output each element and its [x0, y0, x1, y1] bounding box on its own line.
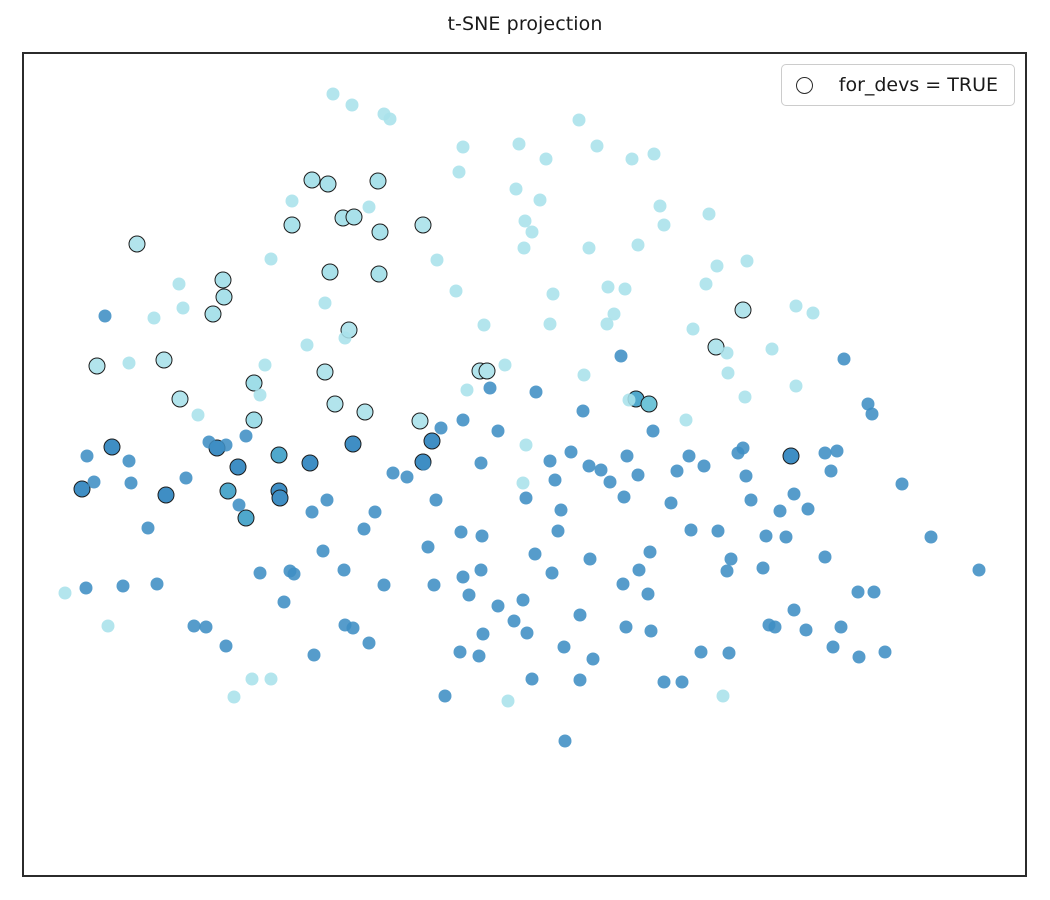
data-point-for-devs-true[interactable]: [345, 209, 362, 226]
data-point-for-devs-false[interactable]: [819, 550, 832, 563]
data-point-for-devs-false[interactable]: [383, 112, 396, 125]
data-point-for-devs-false[interactable]: [806, 306, 819, 319]
data-point-for-devs-false[interactable]: [739, 391, 752, 404]
data-point-for-devs-false[interactable]: [220, 439, 233, 452]
data-point-for-devs-false[interactable]: [148, 311, 161, 324]
data-point-for-devs-false[interactable]: [529, 547, 542, 560]
data-point-for-devs-false[interactable]: [122, 356, 135, 369]
data-point-for-devs-true[interactable]: [412, 413, 429, 430]
data-point-for-devs-false[interactable]: [368, 505, 381, 518]
data-point-for-devs-false[interactable]: [616, 578, 629, 591]
data-point-for-devs-false[interactable]: [305, 505, 318, 518]
data-point-for-devs-false[interactable]: [586, 653, 599, 666]
data-point-for-devs-false[interactable]: [173, 277, 186, 290]
data-point-for-devs-true[interactable]: [479, 363, 496, 380]
data-point-for-devs-false[interactable]: [277, 596, 290, 609]
data-point-for-devs-true[interactable]: [303, 172, 320, 189]
data-point-for-devs-false[interactable]: [516, 476, 529, 489]
data-point-for-devs-false[interactable]: [614, 349, 627, 362]
data-point-for-devs-false[interactable]: [428, 579, 441, 592]
data-point-for-devs-false[interactable]: [220, 640, 233, 653]
data-point-for-devs-false[interactable]: [457, 414, 470, 427]
data-point-for-devs-false[interactable]: [779, 530, 792, 543]
data-point-for-devs-false[interactable]: [658, 219, 671, 232]
data-point-for-devs-false[interactable]: [620, 450, 633, 463]
data-point-for-devs-false[interactable]: [453, 166, 466, 179]
data-point-for-devs-false[interactable]: [603, 475, 616, 488]
data-point-for-devs-false[interactable]: [745, 493, 758, 506]
data-point-for-devs-false[interactable]: [318, 296, 331, 309]
data-point-for-devs-false[interactable]: [687, 322, 700, 335]
data-point-for-devs-false[interactable]: [307, 649, 320, 662]
data-point-for-devs-false[interactable]: [685, 523, 698, 536]
data-point-for-devs-true[interactable]: [88, 358, 105, 375]
data-point-for-devs-false[interactable]: [421, 540, 434, 553]
data-point-for-devs-false[interactable]: [517, 242, 530, 255]
data-point-for-devs-false[interactable]: [418, 458, 431, 471]
data-point-for-devs-false[interactable]: [450, 284, 463, 297]
data-point-for-devs-false[interactable]: [431, 253, 444, 266]
data-point-for-devs-false[interactable]: [477, 628, 490, 641]
data-point-for-devs-false[interactable]: [619, 621, 632, 634]
data-point-for-devs-false[interactable]: [300, 338, 313, 351]
data-point-for-devs-false[interactable]: [676, 675, 689, 688]
data-point-for-devs-false[interactable]: [475, 457, 488, 470]
data-point-for-devs-false[interactable]: [386, 466, 399, 479]
legend-label: for_devs = TRUE: [839, 74, 998, 96]
data-point-for-devs-true[interactable]: [356, 404, 373, 421]
data-point-for-devs-false[interactable]: [512, 137, 525, 150]
data-point-for-devs-false[interactable]: [721, 346, 734, 359]
data-point-for-devs-false[interactable]: [192, 409, 205, 422]
data-point-for-devs-false[interactable]: [838, 352, 851, 365]
data-point-for-devs-false[interactable]: [617, 490, 630, 503]
data-point-for-devs-false[interactable]: [582, 242, 595, 255]
data-point-for-devs-false[interactable]: [737, 442, 750, 455]
data-point-for-devs-true[interactable]: [735, 301, 752, 318]
data-point-for-devs-true[interactable]: [270, 447, 287, 464]
data-point-for-devs-false[interactable]: [576, 405, 589, 418]
data-point-for-devs-true[interactable]: [326, 396, 343, 413]
data-point-for-devs-true[interactable]: [230, 458, 247, 475]
data-point-for-devs-false[interactable]: [573, 673, 586, 686]
data-point-for-devs-false[interactable]: [665, 496, 678, 509]
data-point-for-devs-false[interactable]: [124, 476, 137, 489]
data-point-for-devs-true[interactable]: [271, 489, 288, 506]
data-point-for-devs-false[interactable]: [757, 561, 770, 574]
data-point-for-devs-false[interactable]: [712, 524, 725, 537]
data-point-for-devs-false[interactable]: [233, 498, 246, 511]
data-point-for-devs-false[interactable]: [925, 530, 938, 543]
data-point-for-devs-false[interactable]: [484, 382, 497, 395]
data-point-for-devs-false[interactable]: [499, 358, 512, 371]
data-point-for-devs-false[interactable]: [548, 473, 561, 486]
data-point-for-devs-false[interactable]: [766, 342, 779, 355]
data-point-for-devs-false[interactable]: [789, 299, 802, 312]
data-point-for-devs-false[interactable]: [551, 524, 564, 537]
data-point-for-devs-false[interactable]: [711, 259, 724, 272]
data-point-for-devs-false[interactable]: [594, 464, 607, 477]
data-point-for-devs-false[interactable]: [320, 493, 333, 506]
data-point-for-devs-false[interactable]: [254, 567, 267, 580]
data-point-for-devs-false[interactable]: [507, 615, 520, 628]
data-point-for-devs-false[interactable]: [557, 641, 570, 654]
data-point-for-devs-true[interactable]: [205, 305, 222, 322]
data-point-for-devs-false[interactable]: [543, 317, 556, 330]
data-point-for-devs-false[interactable]: [326, 87, 339, 100]
data-point-for-devs-false[interactable]: [58, 587, 71, 600]
data-point-for-devs-true[interactable]: [103, 439, 120, 456]
data-point-for-devs-false[interactable]: [454, 646, 467, 659]
data-point-for-devs-false[interactable]: [526, 672, 539, 685]
data-point-for-devs-false[interactable]: [141, 521, 154, 534]
data-point-for-devs-false[interactable]: [101, 620, 114, 633]
data-point-for-devs-false[interactable]: [632, 564, 645, 577]
data-point-for-devs-false[interactable]: [337, 564, 350, 577]
data-point-for-devs-true[interactable]: [172, 391, 189, 408]
data-point-for-devs-false[interactable]: [647, 148, 660, 161]
data-point-for-devs-false[interactable]: [435, 422, 448, 435]
data-point-for-devs-false[interactable]: [643, 545, 656, 558]
data-point-for-devs-false[interactable]: [680, 414, 693, 427]
data-point-for-devs-true[interactable]: [415, 217, 432, 234]
data-point-for-devs-false[interactable]: [259, 359, 272, 372]
data-point-for-devs-false[interactable]: [631, 239, 644, 252]
data-point-for-devs-true[interactable]: [158, 486, 175, 503]
data-point-for-devs-false[interactable]: [362, 201, 375, 214]
data-point-for-devs-false[interactable]: [476, 529, 489, 542]
data-point-for-devs-true[interactable]: [423, 433, 440, 450]
data-point-for-devs-false[interactable]: [203, 436, 216, 449]
data-point-for-devs-false[interactable]: [658, 675, 671, 688]
data-point-for-devs-false[interactable]: [852, 586, 865, 599]
data-point-for-devs-false[interactable]: [520, 439, 533, 452]
data-point-for-devs-false[interactable]: [618, 282, 631, 295]
data-point-for-devs-false[interactable]: [825, 464, 838, 477]
data-point-for-devs-true[interactable]: [156, 352, 173, 369]
data-point-for-devs-false[interactable]: [316, 544, 329, 557]
data-point-for-devs-false[interactable]: [521, 627, 534, 640]
data-point-for-devs-false[interactable]: [625, 152, 638, 165]
data-point-for-devs-false[interactable]: [622, 394, 635, 407]
data-point-for-devs-false[interactable]: [789, 380, 802, 393]
data-point-for-devs-false[interactable]: [583, 552, 596, 565]
data-point-for-devs-false[interactable]: [554, 503, 567, 516]
data-point-for-devs-false[interactable]: [526, 226, 539, 239]
data-point-for-devs-false[interactable]: [377, 579, 390, 592]
data-point-for-devs-false[interactable]: [700, 277, 713, 290]
data-point-for-devs-false[interactable]: [285, 195, 298, 208]
data-point-for-devs-false[interactable]: [577, 369, 590, 382]
data-point-for-devs-false[interactable]: [644, 625, 657, 638]
data-point-for-devs-false[interactable]: [558, 734, 571, 747]
data-point-for-devs-false[interactable]: [200, 621, 213, 634]
data-point-for-devs-false[interactable]: [868, 586, 881, 599]
data-point-for-devs-false[interactable]: [695, 646, 708, 659]
data-point-for-devs-false[interactable]: [768, 621, 781, 634]
data-point-for-devs-false[interactable]: [188, 620, 201, 633]
data-point-for-devs-false[interactable]: [601, 280, 614, 293]
data-point-for-devs-true[interactable]: [246, 412, 263, 429]
data-point-for-devs-true[interactable]: [284, 217, 301, 234]
data-point-for-devs-false[interactable]: [177, 301, 190, 314]
data-point-for-devs-false[interactable]: [457, 571, 470, 584]
data-point-for-devs-false[interactable]: [546, 287, 559, 300]
data-point-for-devs-false[interactable]: [287, 568, 300, 581]
data-point-for-devs-true[interactable]: [128, 236, 145, 253]
data-point-for-devs-false[interactable]: [461, 384, 474, 397]
data-point-for-devs-false[interactable]: [827, 641, 840, 654]
data-point-for-devs-true[interactable]: [319, 176, 336, 193]
data-point-for-devs-false[interactable]: [572, 113, 585, 126]
data-point-for-devs-false[interactable]: [564, 446, 577, 459]
data-point-for-devs-false[interactable]: [265, 253, 278, 266]
data-point-for-devs-true[interactable]: [216, 288, 233, 305]
data-point-for-devs-true[interactable]: [220, 482, 237, 499]
data-point-for-devs-false[interactable]: [80, 450, 93, 463]
legend-marker-icon: [796, 77, 813, 94]
data-point-for-devs-false[interactable]: [590, 139, 603, 152]
data-point-for-devs-false[interactable]: [799, 624, 812, 637]
legend[interactable]: for_devs = TRUE: [781, 64, 1015, 106]
data-point-for-devs-false[interactable]: [492, 425, 505, 438]
data-point-for-devs-false[interactable]: [457, 140, 470, 153]
data-point-for-devs-false[interactable]: [539, 153, 552, 166]
data-point-for-devs-false[interactable]: [703, 208, 716, 221]
data-point-for-devs-false[interactable]: [228, 690, 241, 703]
data-point-for-devs-false[interactable]: [533, 194, 546, 207]
data-point-for-devs-true[interactable]: [344, 436, 361, 453]
data-point-for-devs-false[interactable]: [254, 389, 267, 402]
data-point-for-devs-false[interactable]: [473, 650, 486, 663]
data-point-for-devs-false[interactable]: [879, 646, 892, 659]
data-point-for-devs-false[interactable]: [646, 425, 659, 438]
data-point-for-devs-true[interactable]: [370, 265, 387, 282]
data-point-for-devs-false[interactable]: [801, 502, 814, 515]
data-point-for-devs-true[interactable]: [321, 263, 338, 280]
data-point-for-devs-false[interactable]: [475, 564, 488, 577]
data-point-for-devs-false[interactable]: [79, 582, 92, 595]
data-point-for-devs-false[interactable]: [509, 183, 522, 196]
data-point-for-devs-false[interactable]: [741, 254, 754, 267]
data-point-for-devs-false[interactable]: [478, 318, 491, 331]
data-point-for-devs-false[interactable]: [180, 471, 193, 484]
data-point-for-devs-false[interactable]: [345, 98, 358, 111]
data-point-for-devs-true[interactable]: [640, 396, 657, 413]
scatter-plot-area[interactable]: [24, 54, 1025, 875]
plot-frame: for_devs = TRUE: [22, 52, 1027, 877]
data-point-for-devs-false[interactable]: [246, 672, 259, 685]
data-point-for-devs-false[interactable]: [773, 504, 786, 517]
data-point-for-devs-false[interactable]: [516, 594, 529, 607]
data-point-for-devs-false[interactable]: [654, 200, 667, 213]
data-point-for-devs-false[interactable]: [671, 464, 684, 477]
data-point-for-devs-false[interactable]: [430, 493, 443, 506]
data-point-for-devs-false[interactable]: [346, 622, 359, 635]
data-point-for-devs-false[interactable]: [362, 637, 375, 650]
data-point-for-devs-false[interactable]: [240, 430, 253, 443]
data-point-for-devs-false[interactable]: [973, 564, 986, 577]
data-point-for-devs-false[interactable]: [265, 672, 278, 685]
data-point-for-devs-false[interactable]: [831, 445, 844, 458]
data-point-for-devs-false[interactable]: [683, 450, 696, 463]
data-point-for-devs-false[interactable]: [717, 689, 730, 702]
data-point-for-devs-false[interactable]: [543, 455, 556, 468]
data-point-for-devs-false[interactable]: [787, 487, 800, 500]
data-point-for-devs-false[interactable]: [151, 578, 164, 591]
page-title: t-SNE projection: [0, 13, 1050, 35]
data-point-for-devs-false[interactable]: [787, 604, 800, 617]
data-point-for-devs-false[interactable]: [631, 468, 644, 481]
data-point-for-devs-false[interactable]: [698, 459, 711, 472]
data-point-for-devs-false[interactable]: [853, 651, 866, 664]
data-point-for-devs-true[interactable]: [782, 448, 799, 465]
data-point-for-devs-false[interactable]: [607, 307, 620, 320]
data-point-for-devs-false[interactable]: [338, 331, 351, 344]
data-point-for-devs-false[interactable]: [866, 408, 879, 421]
data-point-for-devs-false[interactable]: [116, 580, 129, 593]
data-point-for-devs-false[interactable]: [401, 470, 414, 483]
data-point-for-devs-false[interactable]: [520, 491, 533, 504]
tsne-figure: t-SNE projection for_devs = TRUE: [0, 0, 1050, 900]
data-point-for-devs-false[interactable]: [502, 694, 515, 707]
data-point-for-devs-true[interactable]: [301, 455, 318, 472]
data-point-for-devs-false[interactable]: [721, 565, 734, 578]
data-point-for-devs-true[interactable]: [369, 173, 386, 190]
data-point-for-devs-false[interactable]: [819, 447, 832, 460]
data-point-for-devs-false[interactable]: [357, 522, 370, 535]
data-point-for-devs-true[interactable]: [215, 271, 232, 288]
data-point-for-devs-false[interactable]: [725, 552, 738, 565]
data-point-for-devs-false[interactable]: [492, 600, 505, 613]
data-point-for-devs-false[interactable]: [723, 647, 736, 660]
data-point-for-devs-false[interactable]: [740, 469, 753, 482]
data-point-for-devs-false[interactable]: [545, 567, 558, 580]
data-point-for-devs-false[interactable]: [760, 529, 773, 542]
data-point-for-devs-false[interactable]: [87, 475, 100, 488]
data-point-for-devs-false[interactable]: [641, 588, 654, 601]
data-point-for-devs-false[interactable]: [463, 589, 476, 602]
data-point-for-devs-false[interactable]: [895, 477, 908, 490]
data-point-for-devs-true[interactable]: [238, 509, 255, 526]
data-point-for-devs-false[interactable]: [722, 367, 735, 380]
data-point-for-devs-false[interactable]: [582, 459, 595, 472]
data-point-for-devs-false[interactable]: [573, 609, 586, 622]
data-point-for-devs-true[interactable]: [371, 224, 388, 241]
data-point-for-devs-false[interactable]: [122, 455, 135, 468]
data-point-for-devs-false[interactable]: [98, 309, 111, 322]
data-point-for-devs-false[interactable]: [455, 525, 468, 538]
data-point-for-devs-false[interactable]: [835, 621, 848, 634]
data-point-for-devs-false[interactable]: [529, 386, 542, 399]
data-point-for-devs-false[interactable]: [439, 689, 452, 702]
data-point-for-devs-true[interactable]: [316, 364, 333, 381]
